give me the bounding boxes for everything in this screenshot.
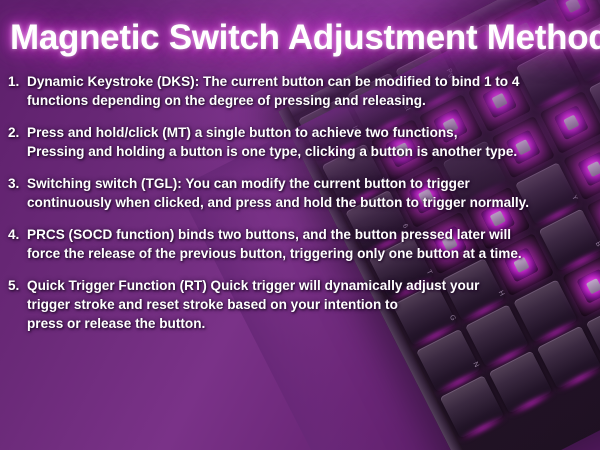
list-item: 2. Press and hold/click (MT) a single bu… <box>8 123 592 161</box>
list-item-line: press or release the button. <box>27 314 592 333</box>
slide-root: Ins Del PgUp 7 Enter 6 S <box>0 0 600 450</box>
list-item-number: 5. <box>8 276 27 333</box>
list-item-line: Pressing and holding a button is one typ… <box>27 142 592 161</box>
list-item-line: functions depending on the degree of pre… <box>27 91 592 110</box>
keycap <box>488 351 552 414</box>
list-item-line: Press and hold/click (MT) a single butto… <box>27 123 592 142</box>
list-item-number: 1. <box>8 72 27 110</box>
keycap-legend: N <box>471 361 480 369</box>
list-item: 5. Quick Trigger Function (RT) Quick tri… <box>8 276 592 333</box>
list-item-number: 3. <box>8 174 27 212</box>
keycap <box>589 0 600 12</box>
list-item-line: PRCS (SOCD function) binds two buttons, … <box>27 225 592 244</box>
keycap-legend: B <box>594 241 600 249</box>
list-item-number: 4. <box>8 225 27 263</box>
keycap <box>440 375 504 438</box>
list-item-text: Press and hold/click (MT) a single butto… <box>27 123 592 161</box>
instruction-list: 1. Dynamic Keystroke (DKS): The current … <box>8 72 592 346</box>
list-item: 3. Switching switch (TGL): You can modif… <box>8 174 592 212</box>
list-item: 1. Dynamic Keystroke (DKS): The current … <box>8 72 592 110</box>
list-item-line: continuously when clicked, and press and… <box>27 193 592 212</box>
list-item: 4. PRCS (SOCD function) binds two button… <box>8 225 592 263</box>
list-item-text: Switching switch (TGL): You can modify t… <box>27 174 592 212</box>
list-item-line: trigger stroke and reset stroke based on… <box>27 295 592 314</box>
list-item-line: Dynamic Keystroke (DKS): The current but… <box>27 72 592 91</box>
list-item-line: Switching switch (TGL): You can modify t… <box>27 174 592 193</box>
list-item-line: Quick Trigger Function (RT) Quick trigge… <box>27 276 592 295</box>
list-item-text: Dynamic Keystroke (DKS): The current but… <box>27 72 592 110</box>
list-item-text: PRCS (SOCD function) binds two buttons, … <box>27 225 592 263</box>
page-title: Magnetic Switch Adjustment Method <box>10 18 600 58</box>
list-item-text: Quick Trigger Function (RT) Quick trigge… <box>27 276 592 333</box>
list-item-number: 2. <box>8 123 27 161</box>
list-item-line: force the release of the previous button… <box>27 244 592 263</box>
